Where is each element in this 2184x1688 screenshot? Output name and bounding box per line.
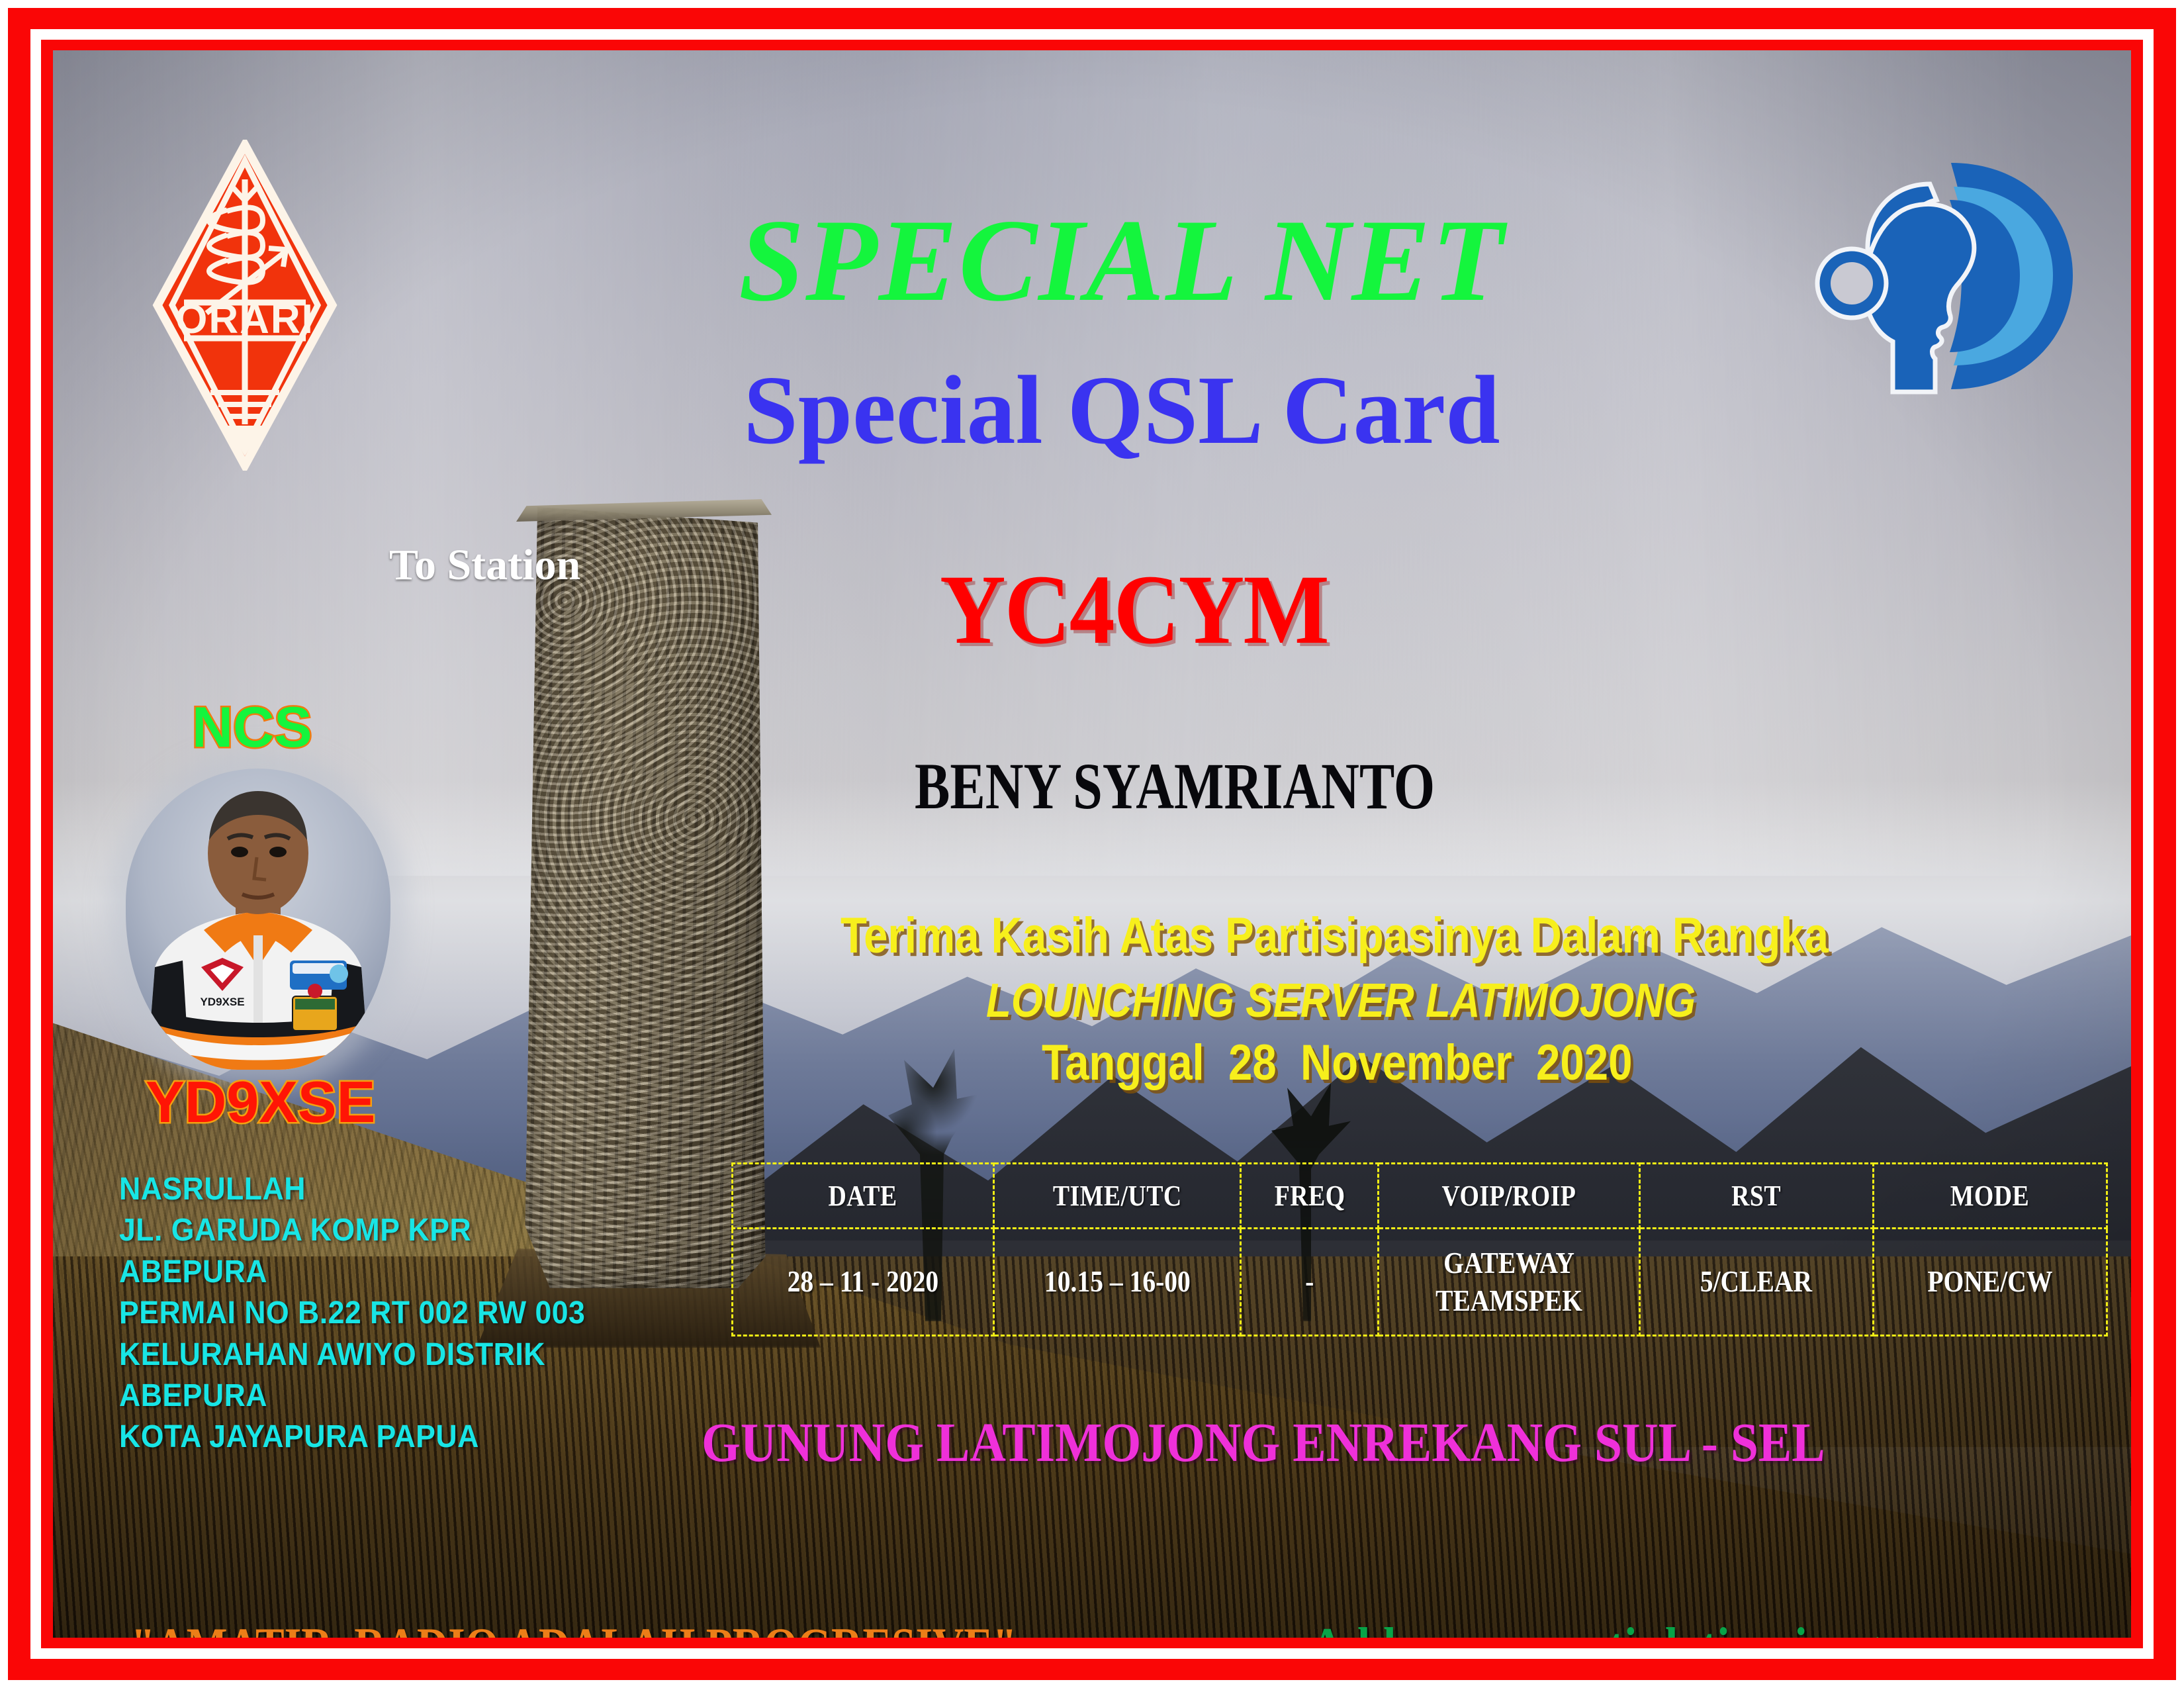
station-callsign: YC4CYM xyxy=(940,560,1328,659)
ncs-label: NCS xyxy=(192,699,312,756)
sender-address-block: NASRULLAH JL. GARUDA KOMP KPR ABEPURA PE… xyxy=(119,1169,585,1458)
table-header-rst-label: RST xyxy=(1731,1179,1781,1213)
table-header-date-label: DATE xyxy=(829,1179,897,1213)
cell-mode: PONE/CW xyxy=(1873,1229,2107,1336)
cell-freq-value: - xyxy=(1305,1263,1314,1300)
address-line: ABEPURA xyxy=(119,1252,585,1293)
table-header-mode-label: MODE xyxy=(1950,1179,2029,1213)
operator-portrait-avatar: YD9XSE xyxy=(126,769,390,1070)
motto-text: "AMATIR RADIO ADALAH PROGRESIVE" xyxy=(131,1620,1017,1638)
thanks-line-2-event: LOUNCHING SERVER LATIMOJONG xyxy=(986,977,1696,1025)
table-header-mode: MODE xyxy=(1873,1164,2107,1229)
table-header-freq: FREQ xyxy=(1241,1164,1379,1229)
page-subtitle-qsl-card: Special QSL Card xyxy=(510,361,1734,459)
table-header-voip-label: VOIP/ROIP xyxy=(1442,1179,1576,1213)
address-line: JL. GARUDA KOMP KPR xyxy=(119,1210,585,1251)
address-line: ABEPURA xyxy=(119,1376,585,1417)
headset-logo xyxy=(1813,143,2078,408)
cell-date: 28 – 11 - 2020 xyxy=(733,1229,994,1336)
table-header-time-label: TIME/UTC xyxy=(1053,1179,1182,1213)
ncs-callsign: YD9XSE xyxy=(146,1073,375,1131)
qsl-card: ORARI xyxy=(0,0,2184,1688)
table-header-rst: RST xyxy=(1639,1164,1873,1229)
cell-voip-value-line2: TEAMSPEK xyxy=(1435,1282,1582,1319)
table-header-voip: VOIP/ROIP xyxy=(1379,1164,1640,1229)
orari-wordmark: ORARI xyxy=(175,297,314,342)
to-station-label: To Station xyxy=(389,543,580,587)
table-header-date: DATE xyxy=(733,1164,994,1229)
location-line: GUNUNG LATIMOJONG ENREKANG SUL - SEL xyxy=(702,1415,1825,1471)
table-header-row: DATE TIME/UTC FREQ VOIP/ROIP RST MODE xyxy=(733,1164,2107,1229)
address-line: PERMAI NO B.22 RT 002 RW 003 xyxy=(119,1293,585,1334)
cell-voip-value-line1: GATEWAY xyxy=(1443,1244,1574,1282)
cell-rst-value: 5/CLEAR xyxy=(1700,1263,1812,1300)
cell-time-value: 10.15 – 16-00 xyxy=(1044,1263,1191,1300)
address-line: KOTA JAYAPURA PAPUA xyxy=(119,1417,585,1458)
cell-mode-value: PONE/CW xyxy=(1927,1263,2052,1300)
operator-name: BENY SYAMRIANTO xyxy=(915,753,1435,820)
cell-freq: - xyxy=(1241,1229,1379,1336)
address-line: NASRULLAH xyxy=(119,1169,585,1210)
thanks-line-3-date: Tanggal 28 November 2020 xyxy=(1042,1038,1632,1088)
table-header-freq-label: FREQ xyxy=(1274,1179,1345,1213)
thanks-line-1: Terima Kasih Atas Partisipasinya Dalam R… xyxy=(841,911,1829,961)
page-title-special-net: SPECIAL NET xyxy=(510,201,1734,319)
table-header-time: TIME/UTC xyxy=(993,1164,1241,1229)
cell-rst: 5/CLEAR xyxy=(1639,1229,1873,1336)
address-line: KELURAHAN AWIYO DISTRIK xyxy=(119,1335,585,1376)
qso-log-table: DATE TIME/UTC FREQ VOIP/ROIP RST MODE 28… xyxy=(731,1162,2108,1336)
web-address-text: Address : amatir.latimojong.com xyxy=(1310,1620,1974,1638)
table-row: 28 – 11 - 2020 10.15 – 16-00 - GATEWAY T… xyxy=(733,1229,2107,1336)
cell-time: 10.15 – 16-00 xyxy=(993,1229,1241,1336)
background-photograph: ORARI xyxy=(53,50,2131,1638)
cell-voip: GATEWAY TEAMSPEK xyxy=(1379,1229,1640,1336)
cell-date-value: 28 – 11 - 2020 xyxy=(788,1263,939,1300)
uniform-callsign-patch: YD9XSE xyxy=(200,996,244,1008)
orari-logo: ORARI xyxy=(152,140,338,471)
